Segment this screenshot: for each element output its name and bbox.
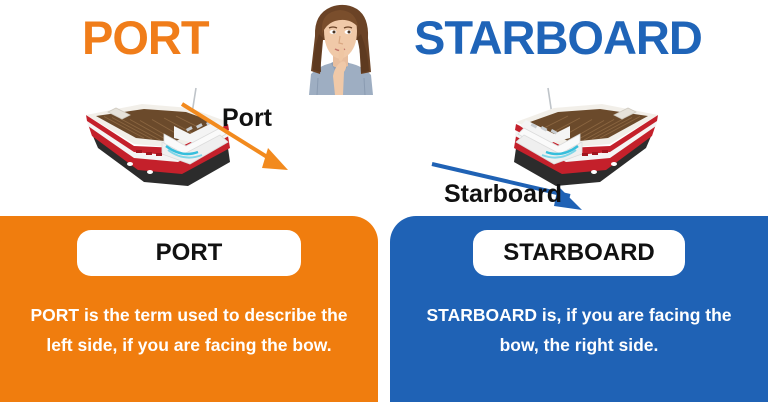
port-arrow-label: Port xyxy=(222,104,272,133)
panel-starboard: STARBOARD STARBOARD is, if you are facin… xyxy=(390,216,768,402)
starboard-arrow-label: Starboard xyxy=(444,180,562,209)
starboard-description: STARBOARD is, if you are facing the bow,… xyxy=(414,300,744,360)
starboard-badge: STARBOARD xyxy=(473,230,685,276)
illustration-section: PORT STARBOARD xyxy=(0,0,768,216)
page-title-port: PORT xyxy=(82,10,262,65)
page-title-starboard: STARBOARD xyxy=(414,10,764,65)
starboard-badge-label: STARBOARD xyxy=(503,239,655,267)
port-description: PORT is the term used to describe the le… xyxy=(24,300,354,360)
port-badge: PORT xyxy=(77,230,301,276)
port-badge-label: PORT xyxy=(156,239,223,267)
definition-panels: PORT PORT is the term used to describe t… xyxy=(0,216,768,402)
panel-port: PORT PORT is the term used to describe t… xyxy=(0,216,378,402)
thinking-woman-photo xyxy=(287,0,393,95)
